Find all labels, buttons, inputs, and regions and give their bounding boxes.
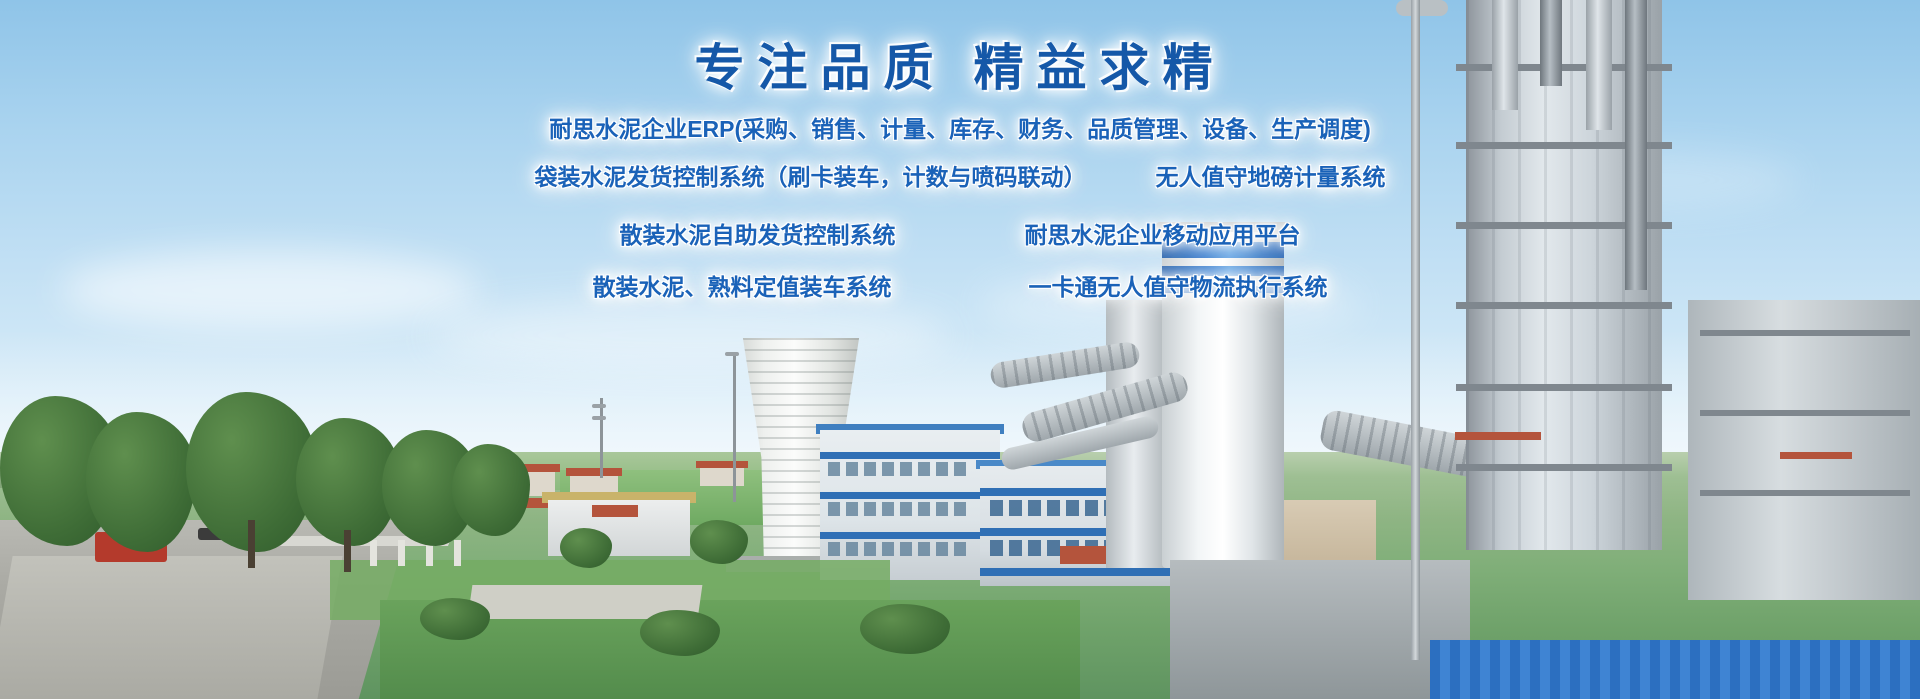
feature-unattended-weighbridge: 无人值守地磅计量系统 [1155, 158, 1385, 192]
feature-bulk-selfservice-dispatch: 散装水泥自助发货控制系统 [620, 216, 896, 250]
feature-mobile-platform: 耐思水泥企业移动应用平台 [1024, 216, 1300, 250]
feature-line-2: 袋装水泥发货控制系统（刷卡装车，计数与喷码联动） 无人值守地磅计量系统 [0, 158, 1920, 192]
banner-stage: 专注品质 精益求精 耐思水泥企业ERP(采购、销售、计量、库存、财务、品质管理、… [0, 0, 1920, 699]
feature-line-4: 散装水泥、熟料定值装车系统 一卡通无人值守物流执行系统 [0, 268, 1920, 302]
text-overlay: 专注品质 精益求精 耐思水泥企业ERP(采购、销售、计量、库存、财务、品质管理、… [0, 0, 1920, 699]
feature-erp: 耐思水泥企业ERP(采购、销售、计量、库存、财务、品质管理、设备、生产调度) [549, 110, 1371, 144]
feature-onecard-logistics: 一卡通无人值守物流执行系统 [1028, 268, 1327, 302]
feature-line-3: 散装水泥自助发货控制系统 耐思水泥企业移动应用平台 [0, 216, 1920, 250]
banner-headline: 专注品质 精益求精 [0, 28, 1920, 100]
feature-line-1: 耐思水泥企业ERP(采购、销售、计量、库存、财务、品质管理、设备、生产调度) [0, 110, 1920, 144]
feature-bagged-cement-dispatch: 袋装水泥发货控制系统（刷卡装车，计数与喷码联动） [535, 158, 1087, 192]
feature-bulk-clinker-loading: 散装水泥、熟料定值装车系统 [593, 268, 892, 302]
